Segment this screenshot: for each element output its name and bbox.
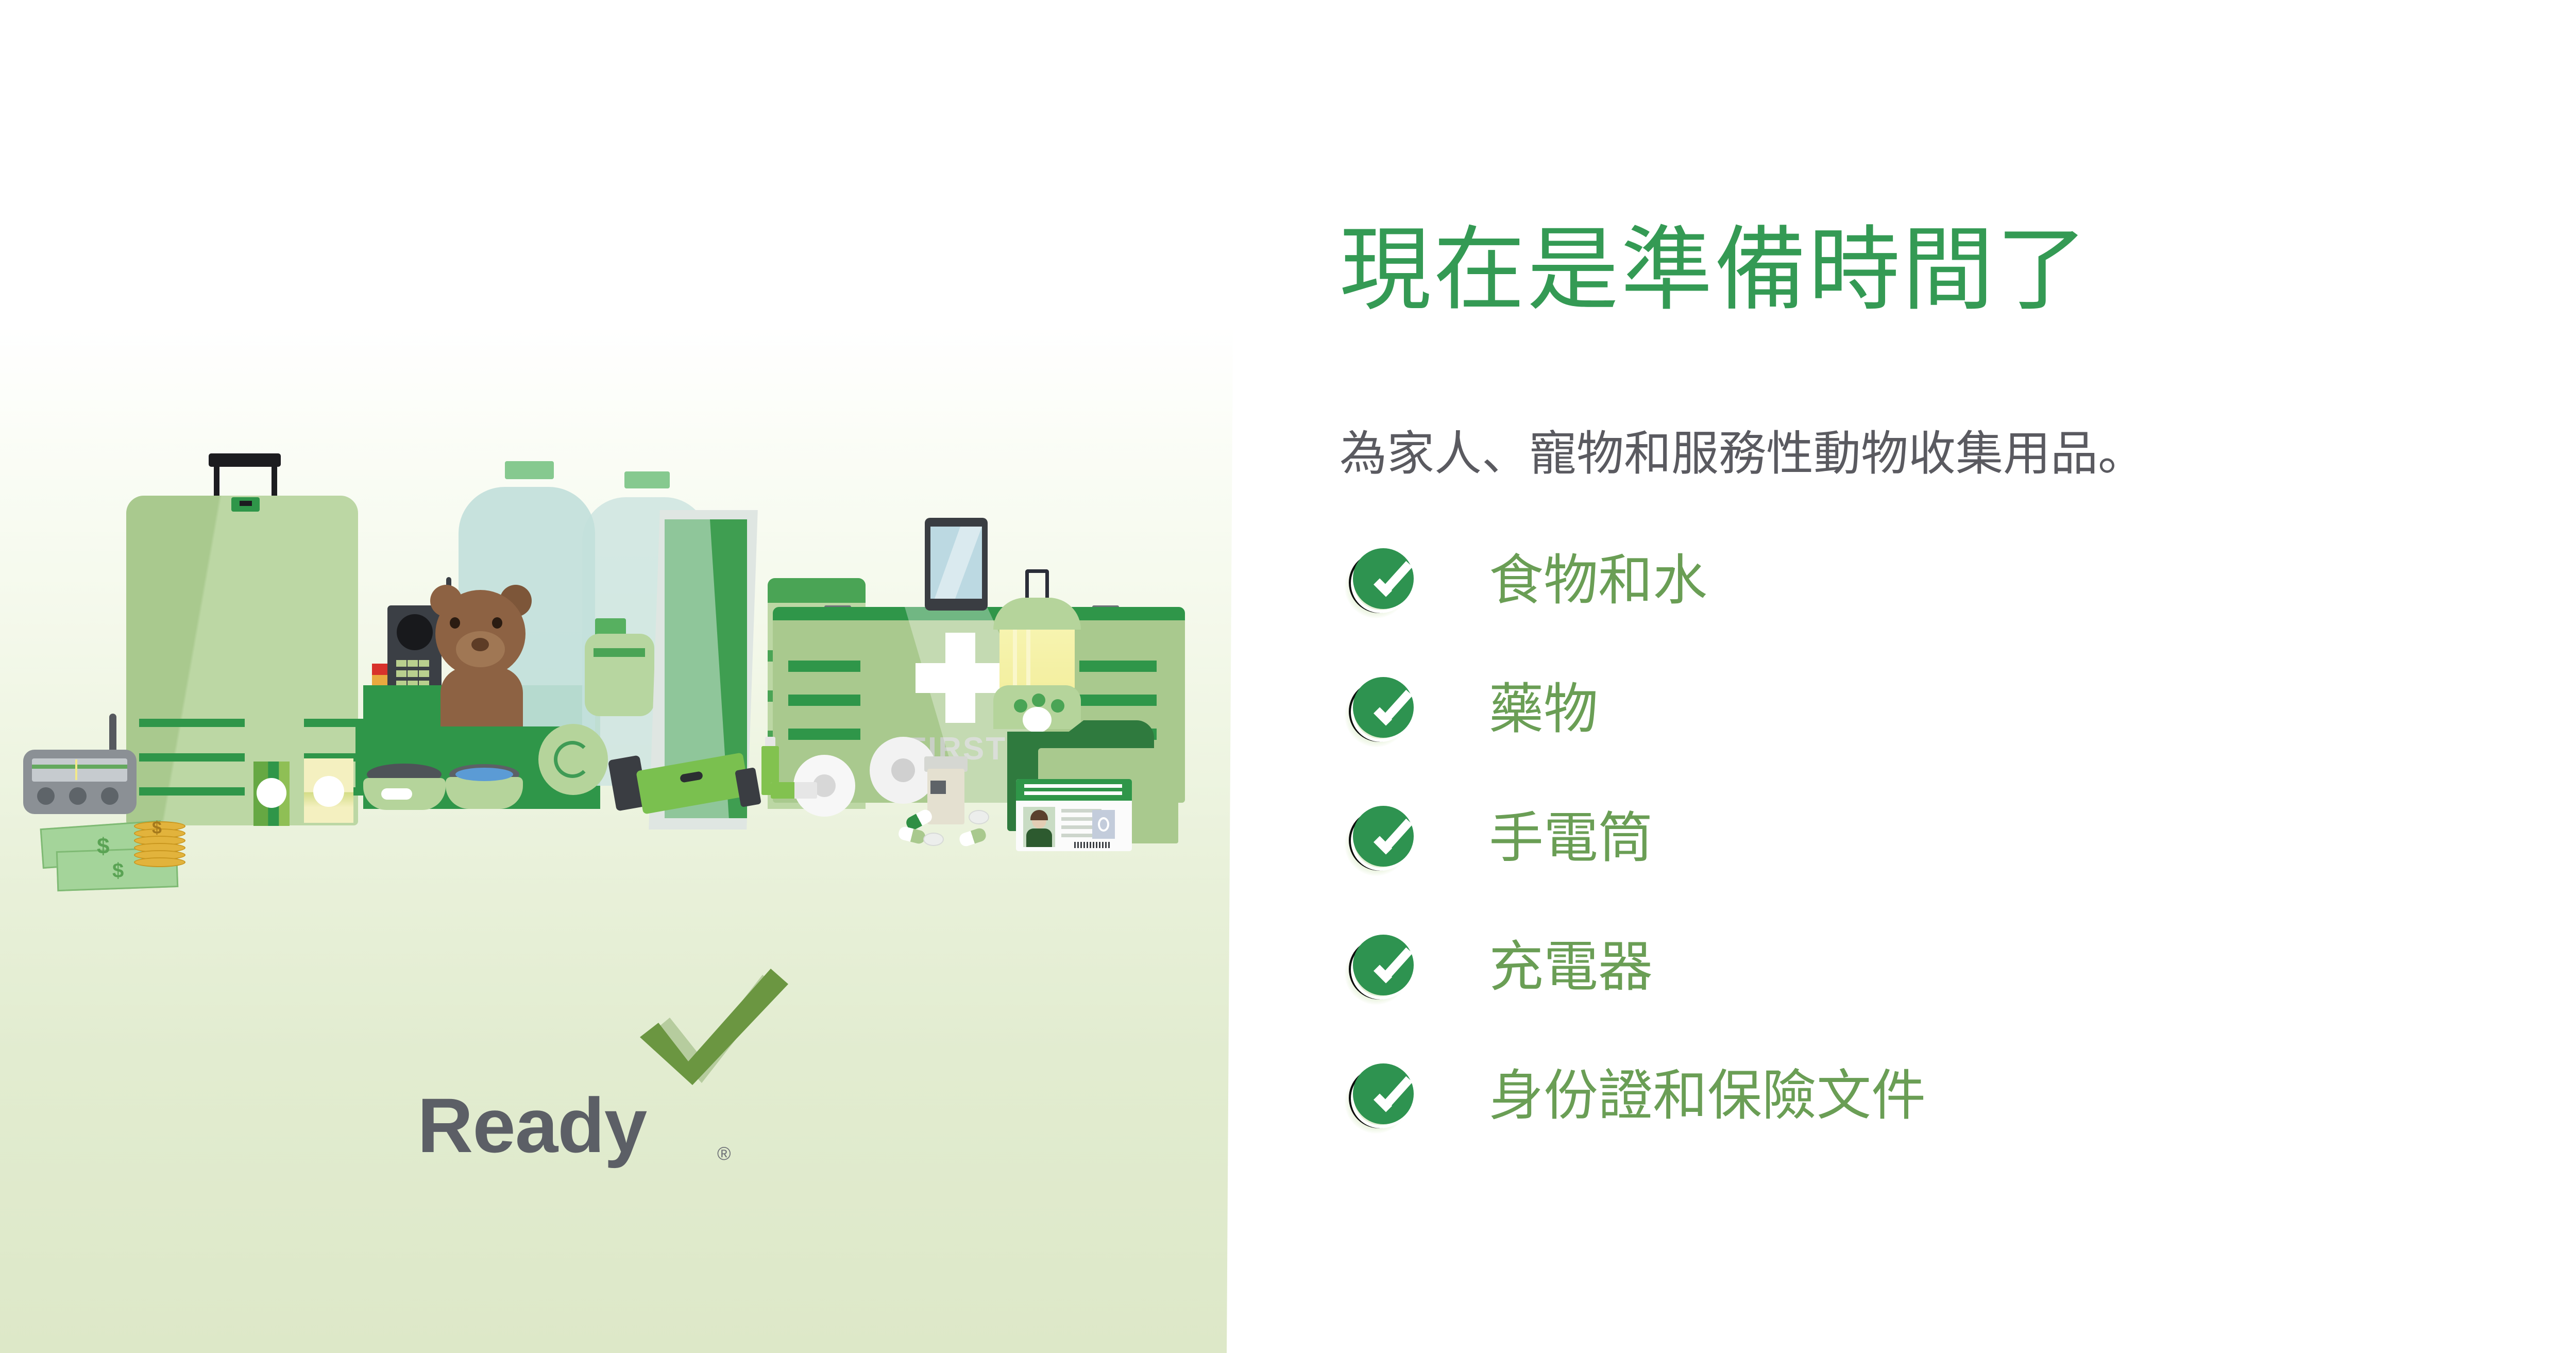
illustration-panel: $ $ $ RED HANDFLARE	[0, 0, 1236, 1353]
list-item-label: 食物和水	[1489, 548, 1707, 614]
water-canteen-icon	[585, 634, 654, 716]
id-card-header	[1016, 779, 1132, 801]
list-item-label: 身份證和保險文件	[1489, 1063, 1926, 1129]
sleeping-bag-spiral	[554, 741, 591, 778]
list-item[interactable]: 藥物	[1340, 670, 2576, 799]
radio-knob	[37, 787, 55, 805]
can-label-circle	[257, 778, 286, 808]
ready-wordmark: Ready	[417, 1081, 647, 1170]
suitcase-strap	[139, 753, 245, 762]
lantern-rod	[1026, 626, 1030, 688]
teddy-bear-nose	[471, 638, 489, 651]
round-pill-icon	[923, 833, 944, 846]
suitcase-strap	[139, 719, 245, 727]
suitcase-handle-right-post	[272, 464, 277, 500]
green-check-circle-icon	[1345, 933, 1412, 1000]
page-subtitle: 為家人、寵物和服務性動物收集用品。	[1340, 428, 2145, 481]
checkmark-icon	[1377, 572, 1409, 589]
battery-body	[771, 782, 794, 799]
coin-icon	[134, 857, 185, 867]
list-item[interactable]: 身份證和保險文件	[1340, 1056, 2576, 1185]
list-item-label: 藥物	[1489, 677, 1598, 742]
paw-print-icon	[1023, 707, 1052, 733]
poster-root: $ $ $ RED HANDFLARE	[0, 0, 2576, 1353]
water-jug-cap	[624, 471, 670, 488]
pill-bottle-label	[930, 781, 946, 794]
toilet-paper-core	[891, 758, 915, 782]
camping-lantern-icon	[993, 598, 1081, 630]
green-check-circle-icon	[1345, 804, 1412, 871]
water-jug-cap	[505, 461, 554, 479]
list-item[interactable]: 充電器	[1340, 927, 2576, 1056]
radio-speaker-grille	[397, 614, 433, 650]
paw-pad-icon	[1014, 699, 1027, 713]
coin-dollar-icon: $	[152, 818, 162, 838]
capsule-pill-icon	[958, 827, 987, 848]
pet-water-bowl-icon	[446, 777, 523, 809]
checkmark-icon	[1377, 958, 1409, 976]
double-checkmark-icon	[639, 969, 793, 1087]
paw-pad-icon	[1051, 699, 1064, 713]
id-header-line	[1024, 784, 1122, 788]
round-pill-icon	[969, 810, 989, 824]
page-title: 現在是準備時間了	[1340, 222, 2090, 319]
capsule-pill-icon	[897, 825, 927, 845]
dollar-sign-icon: $	[112, 859, 124, 883]
radio-dial-band	[32, 765, 127, 769]
badge-circle	[1353, 677, 1414, 738]
suitcase-handle-icon	[209, 453, 281, 467]
paper-towel-top	[768, 578, 866, 603]
id-seal-ring	[1098, 817, 1109, 832]
lantern-glass	[999, 626, 1075, 688]
suitcase-latch-slot	[240, 501, 252, 506]
teddy-bear-eye	[492, 617, 502, 629]
lantern-rod	[1013, 626, 1017, 688]
radio-knob	[101, 787, 118, 805]
id-header-line	[1024, 791, 1122, 795]
id-photo-torso	[1026, 828, 1052, 847]
canteen-band	[594, 648, 645, 657]
checkmark-icon	[1377, 830, 1409, 847]
badge-circle	[1353, 806, 1414, 867]
suitcase-handle-left-post	[214, 464, 219, 500]
can-label-circle	[313, 776, 344, 807]
ready-logo: Ready ®	[412, 969, 793, 1185]
first-aid-kit-strap	[1079, 661, 1157, 672]
paw-pad-icon	[1032, 694, 1045, 707]
green-check-circle-icon	[1345, 1061, 1412, 1128]
radio-dial-needle	[75, 759, 77, 780]
first-aid-kit-strap	[788, 695, 860, 706]
badge-circle	[1353, 935, 1414, 995]
first-aid-kit-strap	[788, 661, 860, 672]
pill-bottle-icon	[927, 769, 964, 824]
first-aid-kit-strap	[1079, 695, 1157, 706]
preparedness-checklist: 食物和水 藥物	[1340, 541, 2576, 1185]
first-aid-kit-strap	[788, 729, 860, 740]
list-item-label: 手電筒	[1489, 806, 1653, 871]
bowl-water	[455, 768, 513, 781]
radio-knob	[69, 787, 87, 805]
green-check-circle-icon	[1345, 546, 1412, 613]
checkmark-icon	[1377, 701, 1409, 718]
dollar-sign-icon: $	[97, 834, 109, 859]
list-item-label: 充電器	[1489, 935, 1653, 1000]
green-check-circle-icon	[1345, 675, 1412, 742]
list-item[interactable]: 食物和水	[1340, 541, 2576, 670]
list-item[interactable]: 手電筒	[1340, 799, 2576, 927]
lantern-handle	[1025, 569, 1049, 601]
radio-dial	[32, 758, 127, 782]
badge-circle	[1353, 1063, 1414, 1124]
registered-trademark-icon: ®	[717, 1143, 731, 1164]
checkmark-icon	[1377, 1087, 1409, 1105]
content-column: 現在是準備時間了 為家人、寵物和服務性動物收集用品。 食物和水	[1340, 0, 2576, 1353]
suitcase-strap	[139, 787, 245, 796]
dog-bone-icon	[381, 788, 412, 800]
id-barcode	[1074, 842, 1111, 848]
badge-circle	[1353, 548, 1414, 609]
teddy-bear-eye	[450, 617, 460, 629]
